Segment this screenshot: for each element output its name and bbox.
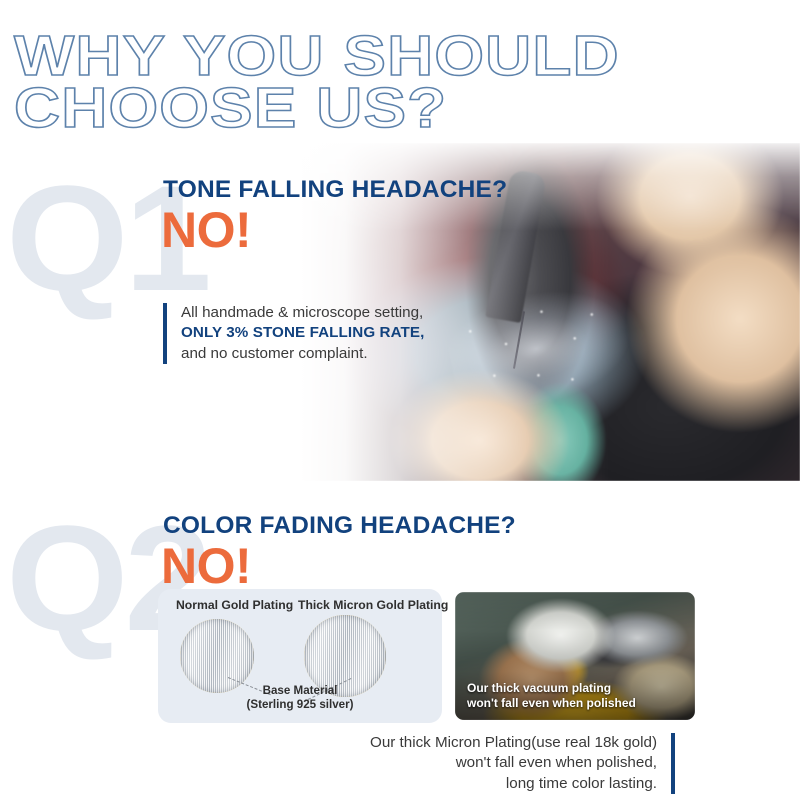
q2-note-line-1: Our thick Micron Plating(use real 18k go… bbox=[370, 733, 657, 753]
q2-answer: NO! bbox=[161, 541, 251, 591]
comparison-label-thick: Thick Micron Gold Plating bbox=[298, 598, 448, 612]
page-title: WHY YOU SHOULD CHOOSE US? bbox=[14, 30, 754, 135]
q2-note-line-2: won't fall even when polished, bbox=[370, 753, 657, 773]
q2-note: Our thick Micron Plating(use real 18k go… bbox=[370, 733, 675, 794]
q1-note-line-2: ONLY 3% STONE FALLING RATE, bbox=[181, 323, 425, 343]
ring-polishing-photo: Our thick vacuum plating won't fall even… bbox=[455, 592, 695, 720]
photo-caption-line-1: Our thick vacuum plating bbox=[467, 681, 636, 696]
base-material-label: Base Material (Sterling 925 silver) bbox=[158, 684, 442, 713]
q1-note: All handmade & microscope setting, ONLY … bbox=[163, 303, 425, 364]
photo-caption-line-2: won't fall even when polished bbox=[467, 696, 636, 711]
page-title-line-2: CHOOSE US? bbox=[14, 82, 800, 134]
infographic-page: WHY YOU SHOULD CHOOSE US? Q1 TONE FALLIN… bbox=[0, 0, 800, 800]
q1-headline: TONE FALLING HEADACHE? bbox=[163, 176, 507, 204]
q2-note-line-3: long time color lasting. bbox=[370, 774, 657, 794]
page-title-line-1: WHY YOU SHOULD bbox=[14, 30, 800, 82]
comparison-label-normal: Normal Gold Plating bbox=[176, 598, 293, 612]
q1-answer: NO! bbox=[161, 205, 251, 255]
q1-note-line-3: and no customer complaint. bbox=[181, 344, 425, 364]
base-material-label-line-1: Base Material bbox=[158, 684, 442, 698]
normal-gold-plating-diagram bbox=[180, 619, 254, 693]
base-material-label-line-2: (Sterling 925 silver) bbox=[158, 698, 442, 712]
photo-caption: Our thick vacuum plating won't fall even… bbox=[467, 681, 636, 711]
q1-note-line-1: All handmade & microscope setting, bbox=[181, 303, 425, 323]
base-material-core bbox=[180, 619, 254, 693]
q2-headline: COLOR FADING HEADACHE? bbox=[163, 512, 516, 540]
gold-plating-comparison-panel: Normal Gold Plating Thick Micron Gold Pl… bbox=[158, 589, 442, 723]
